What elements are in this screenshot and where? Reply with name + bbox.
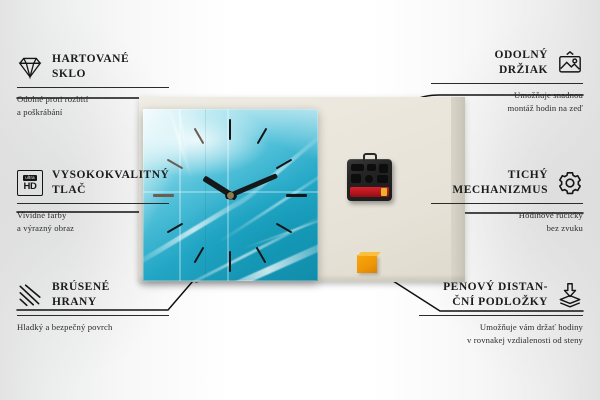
foam-spacer-top [357,252,381,256]
battery-terminal [381,188,387,196]
feature-description: Umožňuje snadnou montáž hodin na zeď [431,89,583,113]
feature-title: ODOLNÝ DRŽIAK [495,48,548,78]
feather-streak [232,131,318,211]
feature-description: Vividné farby a výrazný obraz [17,209,169,233]
divider [17,87,169,88]
gear-icon [557,170,583,196]
mechanism-slot [379,164,388,173]
divider [419,315,583,316]
feature-desc-line1: Hodinové ručičky [431,209,583,221]
mechanism-slot [351,164,364,171]
feature-hq-print: ultra HD VYSOKOKVALITNÝ TLAČ Vividné far… [17,168,169,234]
mechanism-hanger [363,153,377,161]
diamond-gem-icon [17,54,43,80]
hands-hub [227,192,234,199]
feature-ground-edges: BRÚSENÉ HRANY Hladký a bezpečný povrch [17,280,169,334]
feature-title-line1: HARTOVANÉ [52,52,129,67]
product-photo [139,97,465,282]
divider [17,203,169,204]
clock-mechanism [347,159,392,201]
divider [431,83,583,84]
arrow-onto-layers-icon [557,282,583,308]
battery [350,187,389,197]
feature-desc-line2: v rovnakej vzdialenosti od steny [419,334,583,346]
ultra-label: ultra [23,175,37,181]
feature-description: Umožňuje vám držať hodiny v rovnakej vzd… [419,321,583,345]
feature-title: PENOVÝ DISTAN- ČNÍ PODLOŽKY [443,280,548,310]
hour-tick [194,128,205,145]
hour-tick [286,194,307,197]
hour-tick [194,247,205,264]
hour-tick [257,128,268,145]
picture-frame-hanger-icon [557,50,583,76]
feature-desc-line2: a výrazný obraz [17,222,169,234]
feather-streak [160,213,318,281]
mechanism-slot [351,174,361,183]
ultra-hd-badge-icon: ultra HD [17,170,43,196]
feature-silent-mechanism: TICHÝ MECHANIZMUS Hodinové ručičky bez z… [431,168,583,234]
mechanism-slot [367,164,376,171]
mechanism-slot [365,175,373,183]
feature-desc-line1: Hladký a bezpečný povrch [17,321,169,333]
hour-tick [229,251,231,272]
feature-desc-line2: a poškrábání [17,106,169,118]
hour-tick [229,119,231,140]
feature-tempered-glass: HARTOVANÉ SKLO Odolné proti rozbití a po… [17,52,169,118]
tile-seam [205,109,206,281]
feature-title-line1: VYSOKOKVALITNÝ [52,168,169,183]
feature-title-line1: ODOLNÝ [495,48,548,63]
feature-title-line2: MECHANIZMUS [452,183,548,198]
feather-streak [242,210,318,250]
feature-desc-line2: montáž hodin na zeď [431,102,583,114]
feature-desc-line1: Vividné farby [17,209,169,221]
feature-desc-line1: Odolné proti rozbití [17,93,169,105]
infographic-canvas: HARTOVANÉ SKLO Odolné proti rozbití a po… [0,0,600,400]
feature-title-line2: DRŽIAK [495,63,548,78]
divider [431,203,583,204]
foam-spacer-pad [357,255,377,273]
feature-title-line2: HRANY [52,295,110,310]
feature-title-line1: PENOVÝ DISTAN- [443,280,548,295]
divider [17,315,169,316]
feature-desc-line1: Umožňuje vám držať hodiny [419,321,583,333]
diagonal-lines-icon [17,282,43,308]
feature-durable-holder: ODOLNÝ DRŽIAK Umožňuje snadnou montáž ho… [431,48,583,114]
feature-title-line1: TICHÝ [452,168,548,183]
feature-title-line2: ČNÍ PODLOŽKY [443,295,548,310]
feature-description: Hodinové ručičky bez zvuku [431,209,583,233]
feature-title: BRÚSENÉ HRANY [52,280,110,310]
feature-title-line2: SKLO [52,67,129,82]
mechanism-slot [377,175,388,183]
feature-description: Odolné proti rozbití a poškrábání [17,93,169,117]
feature-title: TICHÝ MECHANIZMUS [452,168,548,198]
feature-desc-line2: bez zvuku [431,222,583,234]
hd-label: HD [23,182,36,192]
feature-title: HARTOVANÉ SKLO [52,52,129,82]
feature-foam-spacers: PENOVÝ DISTAN- ČNÍ PODLOŽKY Umožňuje vám… [419,280,583,346]
feature-title-line1: BRÚSENÉ [52,280,110,295]
feature-title: VYSOKOKVALITNÝ TLAČ [52,168,169,198]
feature-title-line2: TLAČ [52,183,169,198]
feature-desc-line1: Umožňuje snadnou [431,89,583,101]
feature-description: Hladký a bezpečný povrch [17,321,169,333]
